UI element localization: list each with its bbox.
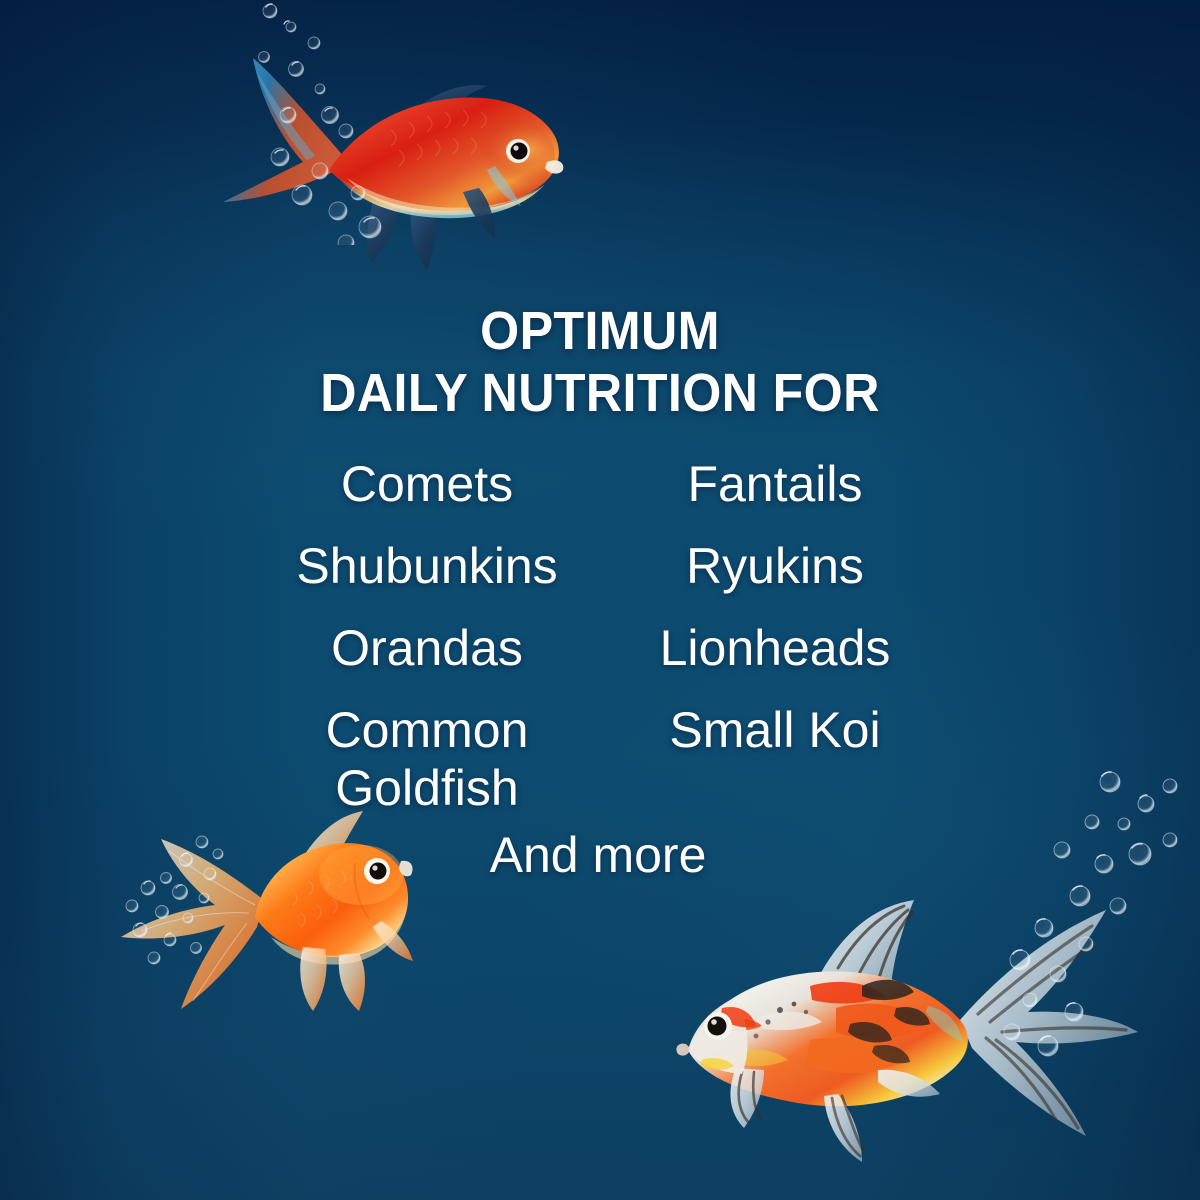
species-item-ryukins: Ryukins xyxy=(625,537,925,595)
species-item-small-koi: Small Koi xyxy=(625,701,925,759)
underwater-goldfish-banner: OPTIMUM DAILY NUTRITION FOR Comets Fanta… xyxy=(0,0,1200,1200)
species-row: Common Goldfish Small Koi xyxy=(300,701,900,827)
species-footer: And more xyxy=(0,826,1198,884)
species-row: Shubunkins Ryukins xyxy=(300,537,900,619)
headline-line-2: DAILY NUTRITION FOR xyxy=(42,362,1158,424)
species-item-orandas: Orandas xyxy=(277,619,577,677)
species-row: Orandas Lionheads xyxy=(300,619,900,701)
species-item-lionheads: Lionheads xyxy=(625,619,925,677)
species-item-shubunkins: Shubunkins xyxy=(277,537,577,595)
species-item-common-goldfish: Common Goldfish xyxy=(312,701,542,817)
species-list: Comets Fantails Shubunkins Ryukins Orand… xyxy=(300,455,900,827)
headline: OPTIMUM DAILY NUTRITION FOR xyxy=(42,300,1158,424)
species-row: Comets Fantails xyxy=(300,455,900,537)
species-item-comets: Comets xyxy=(277,455,577,513)
headline-line-1: OPTIMUM xyxy=(42,300,1158,362)
species-item-fantails: Fantails xyxy=(625,455,925,513)
copy-block: OPTIMUM DAILY NUTRITION FOR Comets Fanta… xyxy=(0,0,1200,1200)
